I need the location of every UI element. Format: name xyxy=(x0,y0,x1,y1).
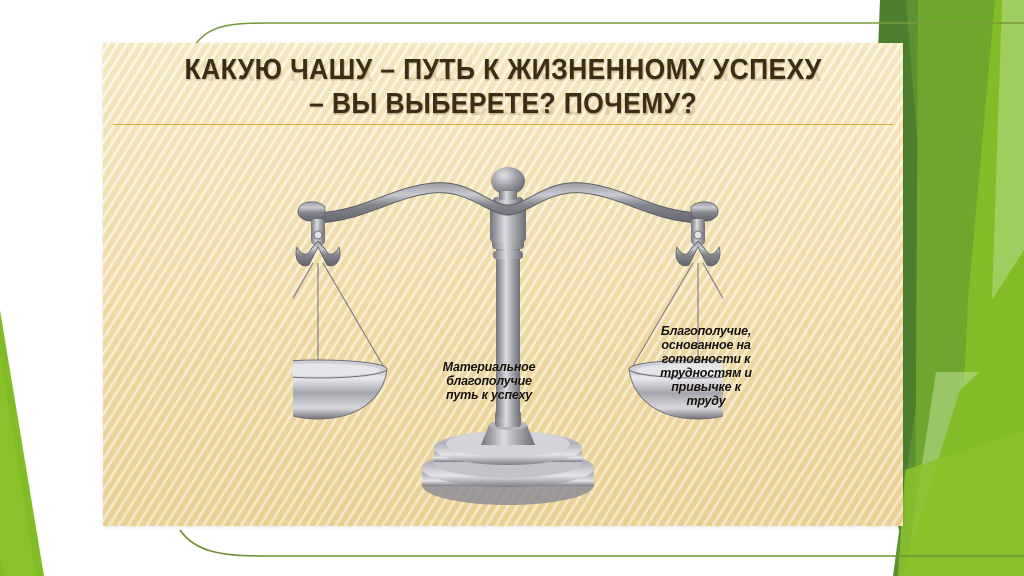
scale-pan-left xyxy=(293,360,387,419)
right-pan-caption: Благополучие, основанное на готовности к… xyxy=(631,324,781,408)
page-title: КАКУЮ ЧАШУ – ПУТЬ К ЖИЗНЕННОМУ УСПЕХУ– В… xyxy=(131,53,875,121)
title-underline-rule xyxy=(113,124,893,125)
right-pan-caption-line5: привычке к xyxy=(631,380,781,394)
accent-curve-bottom xyxy=(180,530,1024,556)
scale-finial-knob xyxy=(491,167,525,200)
green-wedge-light-lower xyxy=(898,430,1024,576)
left-pan-caption: Материальное благополучие путь к успеху xyxy=(409,360,569,402)
title-block: КАКУЮ ЧАШУ – ПУТЬ К ЖИЗНЕННОМУ УСПЕХУ – … xyxy=(103,53,903,121)
left-pan-caption-line2: благополучие xyxy=(409,374,569,388)
green-wedge-bottom-left xyxy=(0,310,44,576)
page-title-line2: – ВЫ ВЫБЕРЕТЕ? ПОЧЕМУ? xyxy=(309,88,697,120)
right-pan-caption-line2: основанное на xyxy=(631,338,781,352)
green-wedge-pale-upper xyxy=(992,0,1024,300)
green-wedge-bright-1 xyxy=(915,0,1000,576)
left-pan-caption-line1: Материальное xyxy=(409,360,569,374)
green-wedge-mid-dark xyxy=(893,0,1024,576)
right-pan-caption-line3: готовности к xyxy=(631,352,781,366)
right-pan-caption-line4: трудностям и xyxy=(631,366,781,380)
green-wedge-bottom-left-2 xyxy=(0,355,36,576)
slide-canvas: КАКУЮ ЧАШУ – ПУТЬ К ЖИЗНЕННОМУ УСПЕХУ – … xyxy=(0,0,1024,576)
right-pan-caption-line1: Благополучие, xyxy=(631,324,781,338)
scale-cords-left xyxy=(293,263,385,375)
green-wedge-bright-2 xyxy=(955,0,1024,576)
green-wedge-bright-lower xyxy=(902,330,1024,576)
content-panel: КАКУЮ ЧАШУ – ПУТЬ К ЖИЗНЕННОМУ УСПЕХУ – … xyxy=(103,43,903,526)
right-pan-caption-line6: труду xyxy=(631,394,781,408)
left-pan-caption-line3: путь к успеху xyxy=(409,388,569,402)
green-wedge-pale-lower xyxy=(905,372,1000,576)
page-title-line1: КАКУЮ ЧАШУ – ПУТЬ К ЖИЗНЕННОМУ УСПЕХУ xyxy=(185,54,822,86)
